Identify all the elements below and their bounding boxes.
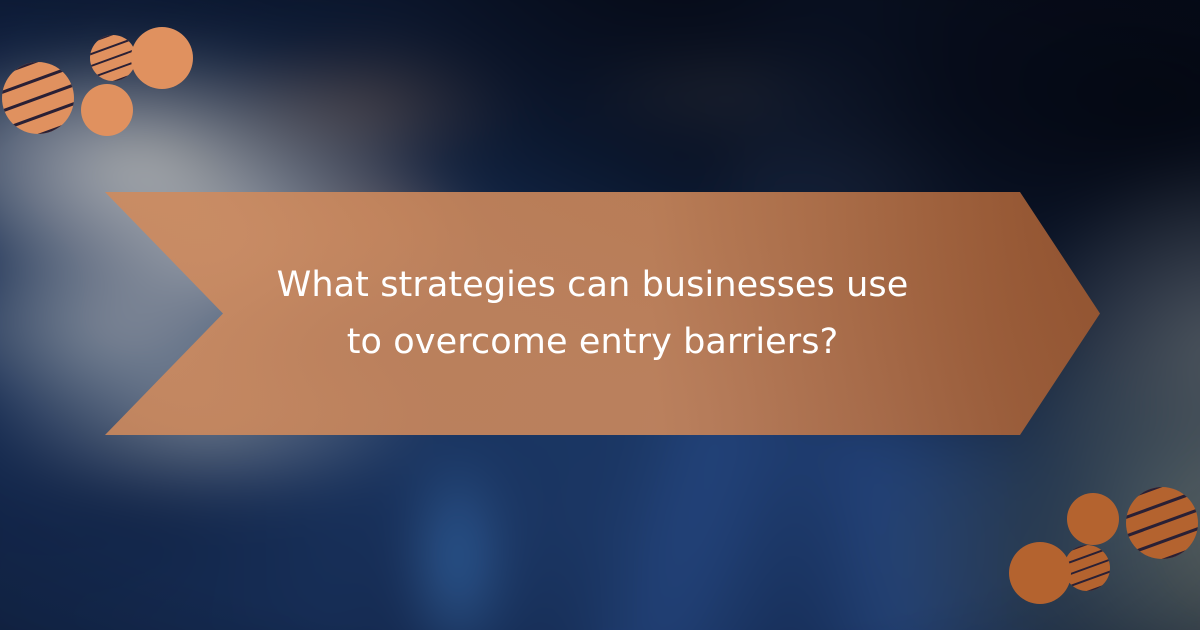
solid-circle-medium [81, 84, 133, 136]
solid-circle-medium [1067, 493, 1119, 545]
share-card: What strategies can businesses use to ov… [0, 0, 1200, 630]
headline: What strategies can businesses use to ov… [263, 257, 923, 370]
decoration-cluster-top-left [0, 0, 240, 170]
decoration-cluster-bottom-right [990, 470, 1200, 630]
solid-circle-large [131, 27, 193, 89]
solid-circle-large [1009, 542, 1071, 604]
headline-text-wrap: What strategies can businesses use to ov… [105, 192, 1100, 435]
